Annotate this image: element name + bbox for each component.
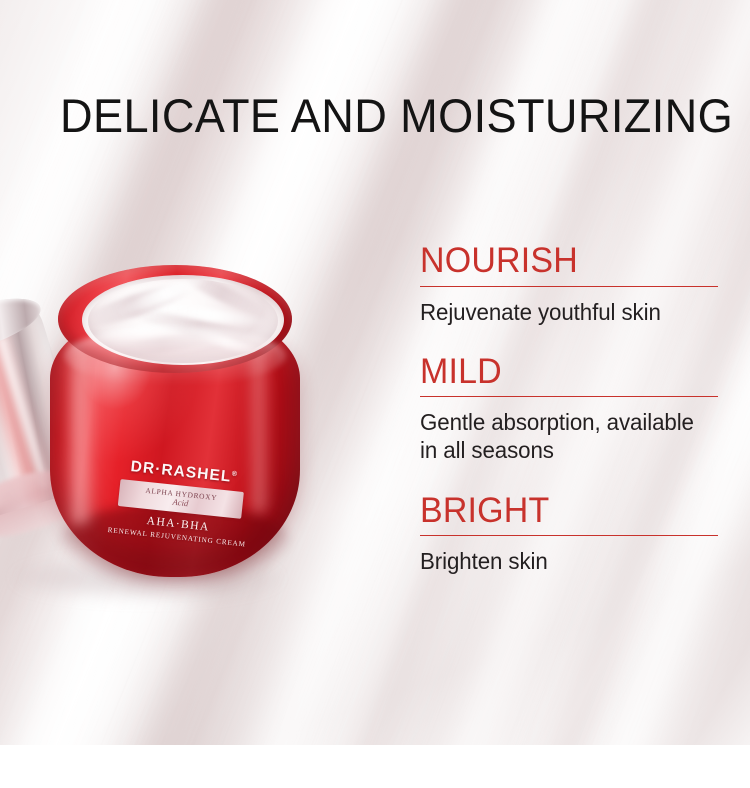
jar-glass-ring xyxy=(64,327,286,385)
product-image: DR·RASHEL® ALPHA HYDROXY Acid AHA·BHA RE… xyxy=(0,255,360,615)
cream-jar: DR·RASHEL® ALPHA HYDROXY Acid AHA·BHA RE… xyxy=(50,265,300,585)
registered-trademark-icon: ® xyxy=(231,471,237,479)
page-title: DELICATE AND MOISTURIZING xyxy=(60,92,733,139)
feature-description: Brighten skin xyxy=(420,547,711,575)
feature-item-bright: BRIGHT Brighten skin xyxy=(420,493,720,576)
feature-divider xyxy=(420,286,718,287)
feature-heading: BRIGHT xyxy=(420,493,711,529)
feature-heading: NOURISH xyxy=(420,243,711,279)
product-poster: DELICATE AND MOISTURIZING xyxy=(0,0,750,788)
feature-item-nourish: NOURISH Rejuvenate youthful skin xyxy=(420,243,720,326)
bottom-white-band xyxy=(0,745,750,788)
feature-heading: MILD xyxy=(420,354,711,390)
label-acid-script: Acid xyxy=(172,498,189,508)
feature-item-mild: MILD Gentle absorption, available in all… xyxy=(420,354,720,465)
feature-description: Rejuvenate youthful skin xyxy=(420,298,711,326)
feature-divider xyxy=(420,396,718,397)
feature-divider xyxy=(420,535,718,536)
feature-description: Gentle absorption, available in all seas… xyxy=(420,408,711,464)
feature-list: NOURISH Rejuvenate youthful skin MILD Ge… xyxy=(420,243,720,575)
